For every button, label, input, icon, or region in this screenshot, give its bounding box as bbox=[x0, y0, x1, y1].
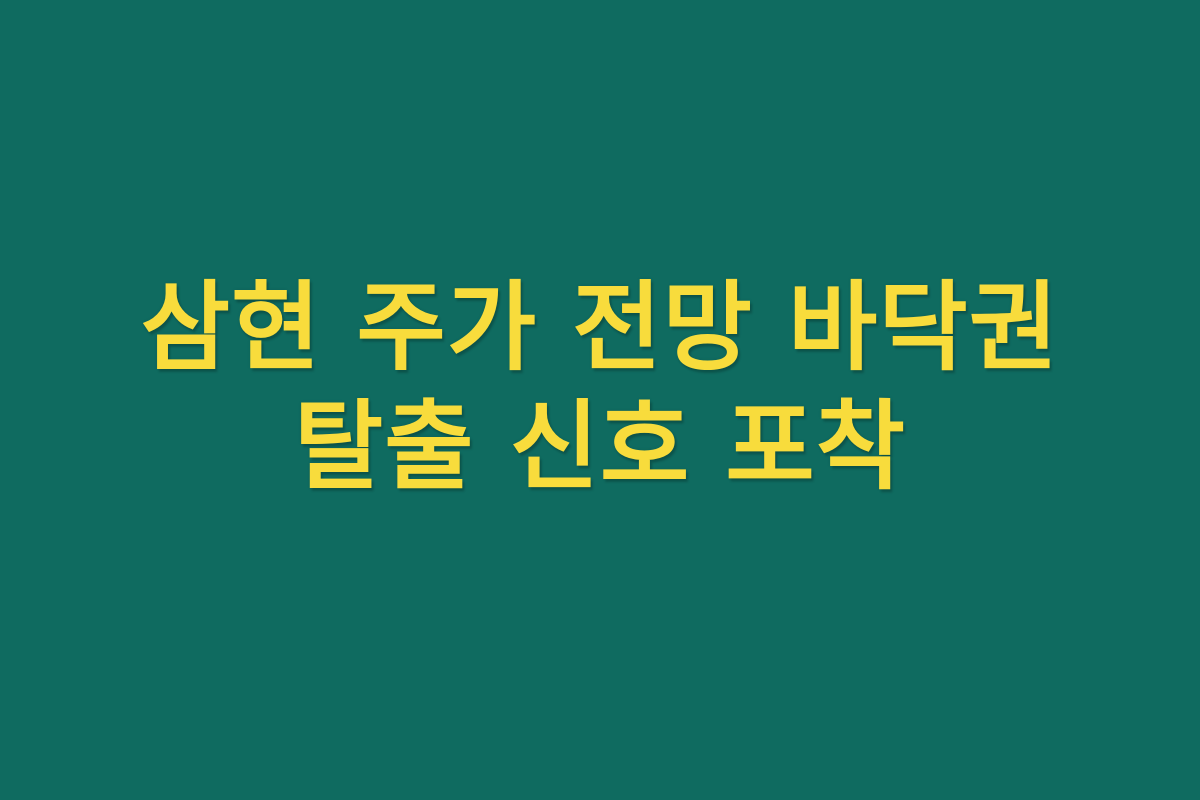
text-card: 삼현 주가 전망 바닥권 탈출 신호 포착 bbox=[0, 0, 1200, 800]
headline-line-2: 탈출 신호 포착 bbox=[0, 395, 1200, 500]
headline-block: 삼현 주가 전망 바닥권 탈출 신호 포착 bbox=[0, 276, 1200, 500]
headline-line-1: 삼현 주가 전망 바닥권 bbox=[0, 276, 1200, 381]
